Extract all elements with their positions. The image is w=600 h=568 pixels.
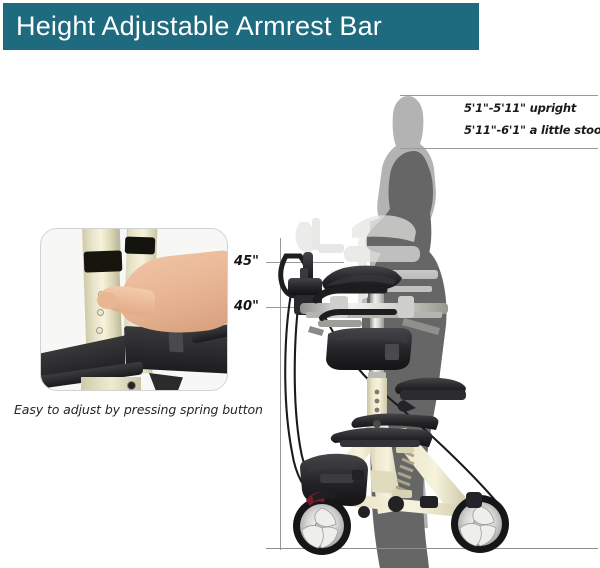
inset-black-collar-front [84, 250, 123, 272]
inset-bolt [127, 381, 136, 390]
walker-footrests [331, 414, 439, 448]
inset-caption: Easy to adjust by pressing spring button [14, 402, 263, 417]
inset-spring-hole-2 [96, 327, 103, 334]
inset-basket-seam [168, 330, 183, 353]
detail-inset-photo [40, 228, 228, 391]
inset-spring-button [97, 309, 104, 316]
walker-knee-pad [395, 378, 466, 412]
infographic-page: Height Adjustable Armrest Bar 5'1"-5'11"… [0, 0, 600, 568]
inset-hardware [149, 373, 183, 391]
walker-seat [326, 328, 412, 370]
inset-scene [41, 229, 227, 390]
inset-black-collar-rear [125, 236, 156, 254]
